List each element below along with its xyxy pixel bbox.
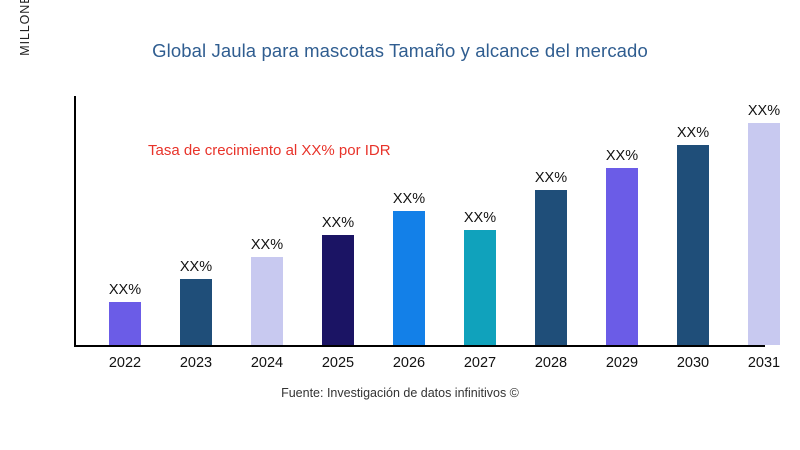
bar-rect-2026[interactable]	[393, 211, 425, 345]
x-tick-2023: 2023	[160, 355, 232, 371]
bar-rect-2022[interactable]	[109, 302, 141, 346]
x-tick-2022: 2022	[89, 355, 161, 371]
bar-value-label-2030: XX%	[659, 125, 727, 141]
x-tick-2024: 2024	[231, 355, 303, 371]
bar-value-label-2025: XX%	[304, 215, 372, 231]
bar-value-label-2026: XX%	[375, 191, 443, 207]
growth-rate-annotation: Tasa de crecimiento al XX% por IDR	[148, 142, 391, 159]
x-tick-2025: 2025	[302, 355, 374, 371]
bar-2024[interactable]: XX%	[251, 257, 283, 345]
bar-rect-2025[interactable]	[322, 235, 354, 345]
bar-2022[interactable]: XX%	[109, 302, 141, 346]
bar-rect-2023[interactable]	[180, 279, 212, 346]
y-axis-label: MILLONES DE USD	[14, 0, 36, 118]
bar-value-label-2022: XX%	[91, 282, 159, 298]
bar-2030[interactable]: XX%	[677, 145, 709, 346]
bar-2023[interactable]: XX%	[180, 279, 212, 346]
bar-value-label-2027: XX%	[446, 210, 514, 226]
bar-rect-2027[interactable]	[464, 230, 496, 345]
bar-value-label-2024: XX%	[233, 237, 301, 253]
x-tick-2028: 2028	[515, 355, 587, 371]
x-tick-2030: 2030	[657, 355, 729, 371]
bar-rect-2031[interactable]	[748, 123, 780, 345]
bar-rect-2029[interactable]	[606, 168, 638, 346]
bar-rect-2030[interactable]	[677, 145, 709, 346]
y-axis-line	[74, 96, 76, 347]
page-title: Global Jaula para mascotas Tamaño y alca…	[0, 40, 800, 62]
bar-rect-2028[interactable]	[535, 190, 567, 345]
bar-2027[interactable]: XX%	[464, 230, 496, 345]
bar-2031[interactable]: XX%	[748, 123, 780, 345]
x-tick-2029: 2029	[586, 355, 658, 371]
bar-value-label-2028: XX%	[517, 170, 585, 186]
bar-value-label-2023: XX%	[162, 259, 230, 275]
bar-rect-2024[interactable]	[251, 257, 283, 345]
bar-2026[interactable]: XX%	[393, 211, 425, 345]
source-note: Fuente: Investigación de datos infinitiv…	[0, 386, 800, 400]
bar-chart-figure: Global Jaula para mascotas Tamaño y alca…	[0, 0, 800, 450]
bar-value-label-2029: XX%	[588, 148, 656, 164]
bar-value-label-2031: XX%	[730, 103, 798, 119]
bar-2028[interactable]: XX%	[535, 190, 567, 345]
x-tick-2027: 2027	[444, 355, 516, 371]
x-tick-2031: 2031	[728, 355, 800, 371]
x-axis-line	[74, 345, 765, 347]
bar-2025[interactable]: XX%	[322, 235, 354, 345]
x-tick-2026: 2026	[373, 355, 445, 371]
bar-2029[interactable]: XX%	[606, 168, 638, 346]
plot-area: XX%XX%XX%XX%XX%XX%XX%XX%XX%XX%	[74, 96, 780, 347]
